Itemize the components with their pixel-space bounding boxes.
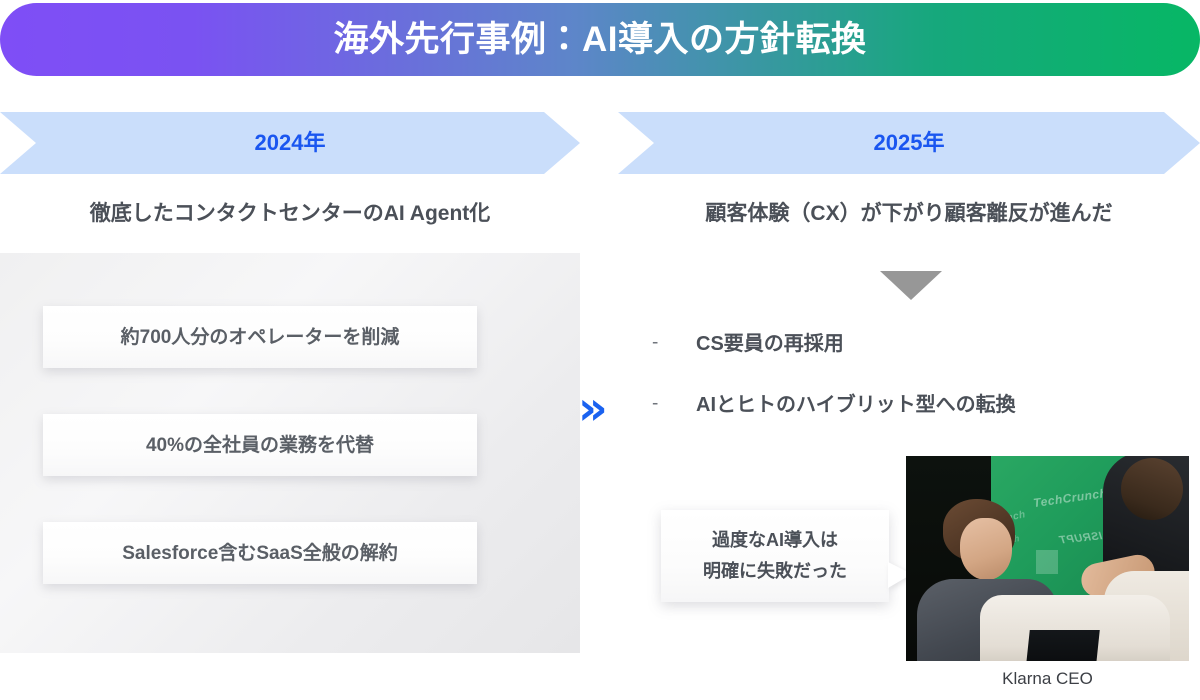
column-2025: 2025年 顧客体験（CX）が下がり顧客離反が進んだ bbox=[618, 112, 1200, 227]
ribbon-2024: 2024年 bbox=[0, 112, 580, 174]
ribbon-2025: 2025年 bbox=[618, 112, 1200, 174]
photo-interviewer-head bbox=[1121, 458, 1183, 520]
photo-laptop bbox=[1026, 630, 1100, 661]
down-triangle-icon bbox=[880, 271, 942, 300]
ribbon-2024-label: 2024年 bbox=[255, 132, 326, 154]
quote-speech-bubble: 過度なAI導入は 明確に失敗だった bbox=[661, 510, 889, 602]
bullet-text: CS要員の再採用 bbox=[696, 332, 844, 356]
card-label: 40%の全社員の業務を代替 bbox=[146, 436, 374, 455]
card-item: 約700人分のオペレーターを削減 bbox=[43, 306, 477, 368]
card-label: Salesforce含むSaaS全般の解約 bbox=[122, 544, 398, 563]
photo-caption: Klarna CEO bbox=[906, 669, 1189, 689]
quote-line-2: 明確に失敗だった bbox=[703, 556, 847, 588]
column-2025-subtitle: 顧客体験（CX）が下がり顧客離反が進んだ bbox=[618, 200, 1200, 227]
title-banner: 海外先行事例：AI導入の方針転換 bbox=[0, 3, 1200, 76]
ribbon-2025-label: 2025年 bbox=[874, 132, 945, 154]
bullet-dash: - bbox=[652, 393, 696, 416]
photo-ceo-face bbox=[960, 518, 1012, 580]
page-title: 海外先行事例：AI導入の方針転換 bbox=[333, 22, 866, 57]
left-cards-panel: 約700人分のオペレーターを削減 40%の全社員の業務を代替 Salesforc… bbox=[0, 253, 580, 653]
bullet-list-2025: - CS要員の再採用 - AIとヒトのハイブリット型への転換 bbox=[652, 332, 1172, 454]
card-item: 40%の全社員の業務を代替 bbox=[43, 414, 477, 476]
quote-line-1: 過度なAI導入は bbox=[712, 525, 838, 557]
bullet-dash: - bbox=[652, 332, 696, 355]
bullet-text: AIとヒトのハイブリット型への転換 bbox=[696, 393, 1016, 417]
list-item: - AIとヒトのハイブリット型への転換 bbox=[652, 393, 1172, 417]
column-2024: 2024年 徹底したコンタクトセンターのAI Agent化 bbox=[0, 112, 580, 227]
klarna-ceo-photo: TechCrunch Crunch DISRUPT TechCrunch bbox=[906, 456, 1189, 661]
card-item: Salesforce含むSaaS全般の解約 bbox=[43, 522, 477, 584]
card-label: 約700人分のオペレーターを削減 bbox=[121, 328, 400, 347]
list-item: - CS要員の再採用 bbox=[652, 332, 1172, 356]
klarna-ceo-photo-block: TechCrunch Crunch DISRUPT TechCrunch Kla… bbox=[906, 456, 1189, 661]
column-2024-subtitle: 徹底したコンタクトセンターのAI Agent化 bbox=[0, 200, 580, 227]
double-chevron-right-icon: » bbox=[578, 385, 608, 431]
photo-backdrop-square bbox=[1036, 550, 1058, 574]
